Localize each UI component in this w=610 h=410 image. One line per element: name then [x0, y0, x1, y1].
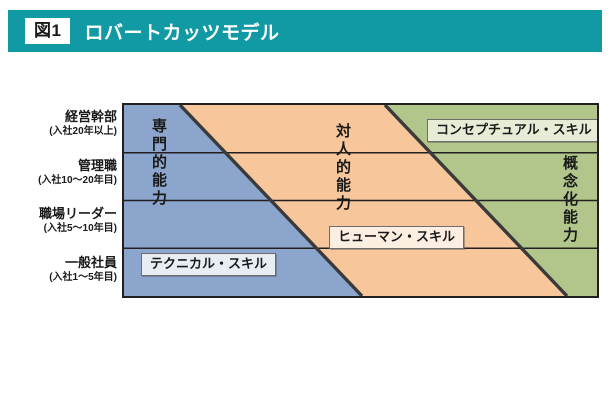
row-label-general-staff-main: 一般社員 [5, 256, 117, 271]
row-label-executive-main: 経営幹部 [5, 110, 117, 125]
row-label-executive: 経営幹部 (入社20年以上) [5, 110, 117, 137]
plot-area: 専門的能力 対人的能力 概念化能力 コンセプチュアル・スキル ヒューマン・スキル… [122, 103, 599, 298]
row-label-team-leader-sub: (入社5〜10年目) [5, 223, 117, 235]
band-label-human: 対人的能力 [335, 123, 350, 213]
row-label-executive-sub: (入社20年以上) [5, 126, 117, 138]
katz-model-diagram: 経営幹部 (入社20年以上) 管理職 (入社10〜20年目) 職場リーダー (入… [0, 0, 610, 410]
row-label-general-staff: 一般社員 (入社1〜5年目) [5, 256, 117, 283]
skill-box-technical: テクニカル・スキル [141, 253, 276, 276]
skill-box-conceptual: コンセプチュアル・スキル [427, 119, 599, 142]
row-label-manager-main: 管理職 [5, 159, 117, 174]
row-label-manager-sub: (入社10〜20年目) [5, 175, 117, 187]
band-label-conceptual: 概念化能力 [562, 155, 577, 245]
row-label-team-leader: 職場リーダー (入社5〜10年目) [5, 207, 117, 234]
row-label-general-staff-sub: (入社1〜5年目) [5, 272, 117, 284]
row-label-manager: 管理職 (入社10〜20年目) [5, 159, 117, 186]
row-label-team-leader-main: 職場リーダー [5, 207, 117, 222]
band-label-technical: 専門的能力 [151, 118, 166, 208]
skill-box-human: ヒューマン・スキル [329, 226, 464, 249]
